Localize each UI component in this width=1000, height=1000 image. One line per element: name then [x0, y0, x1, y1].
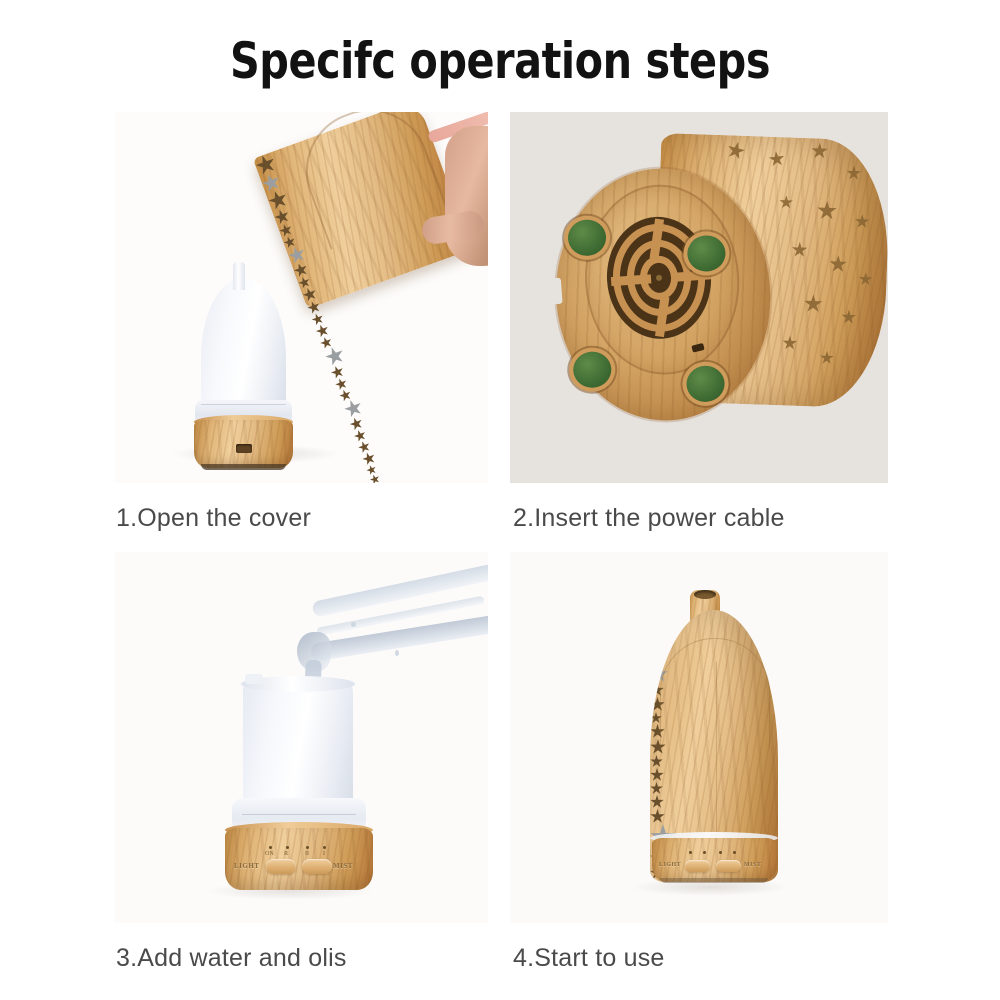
star-cutout-icon	[782, 335, 798, 351]
water-stream	[310, 613, 488, 661]
star-cutout-icon	[768, 150, 786, 168]
star-cutout-icon	[323, 344, 347, 368]
star-cutout-icon	[286, 244, 308, 266]
diffuser-bottom-view	[540, 138, 859, 443]
indicator-dot	[719, 851, 722, 854]
star-cutout-icon	[841, 309, 857, 325]
step-1-photo	[115, 112, 488, 483]
light-button-label: LIGHT	[234, 862, 259, 870]
star-cutout-icon	[779, 195, 793, 209]
star-cutout-icon	[253, 152, 279, 178]
star-cutout-icon	[650, 755, 663, 768]
star-cutout-icon	[357, 439, 372, 454]
light-button[interactable]	[266, 859, 296, 874]
mist-button-label: MIST	[333, 862, 353, 870]
fan-spoke	[671, 270, 712, 282]
base-foot-shadow	[201, 464, 286, 470]
star-cutout-icon	[817, 200, 838, 221]
indicator-dot	[323, 846, 326, 849]
step-2-photo	[510, 112, 888, 483]
star-cutout-icon	[334, 376, 349, 391]
star-cutout-icon	[301, 286, 319, 304]
star-cutout-icon	[650, 768, 664, 782]
star-cutout-icon	[650, 632, 666, 648]
hand	[415, 118, 488, 273]
star-cutout-icon	[292, 261, 310, 279]
star-cutout-icon	[348, 416, 365, 433]
star-cutout-icon	[820, 351, 834, 365]
step-4-photo: LIGHT MIST	[510, 552, 888, 923]
diffuser-tank	[243, 680, 353, 805]
water-droplet	[395, 650, 399, 656]
power-port	[236, 444, 252, 453]
hand-palm	[445, 126, 488, 266]
water-stream	[311, 563, 488, 618]
indicator-label: R	[284, 851, 288, 857]
mist-button[interactable]	[716, 860, 741, 872]
indicator-label: II	[305, 851, 309, 857]
star-cutout-icon	[858, 272, 872, 286]
star-cutout-icon	[329, 364, 346, 381]
tank-tab	[245, 674, 263, 684]
light-button-label: LIGHT	[659, 862, 681, 868]
page-title: Specifc operation steps	[40, 30, 960, 92]
star-cutout-icon	[369, 473, 382, 483]
star-cutout-icon	[846, 165, 862, 181]
star-cutout-icon	[650, 648, 667, 665]
indicator-label: I	[323, 851, 325, 857]
star-cutout-icon	[306, 299, 323, 316]
indicator-dot	[306, 846, 309, 849]
body-arc-line	[660, 638, 770, 749]
light-button[interactable]	[685, 860, 710, 872]
star-cutout-icon	[811, 142, 829, 160]
indicator-label: ON	[265, 851, 274, 857]
star-cutout-icon	[297, 275, 312, 290]
star-cutout-icon	[650, 782, 663, 795]
diffuser-wood-base: LIGHT MIST ON R II I	[225, 828, 373, 890]
star-cutout-icon	[266, 188, 290, 212]
mist-outlet	[694, 590, 716, 599]
indicator-dot	[269, 846, 272, 849]
body-seam	[716, 662, 717, 842]
mist-button[interactable]	[302, 859, 332, 874]
indicator-dot	[286, 846, 289, 849]
star-cutout-icon	[791, 242, 808, 259]
step-4-caption: 4.Start to use	[513, 943, 665, 973]
star-cutout-icon	[725, 140, 747, 162]
star-cutout-icon	[272, 207, 291, 226]
step-3-caption: 3.Add water and olis	[116, 943, 347, 973]
star-cutout-icon	[342, 397, 365, 420]
star-cutout-icon	[361, 450, 378, 467]
base-foot-shadow	[660, 878, 768, 883]
star-cutout-icon	[650, 795, 664, 809]
step-2-caption: 2.Insert the power cable	[513, 503, 785, 533]
indicator-dot	[689, 851, 692, 854]
star-cutout-icon	[365, 464, 378, 477]
star-cutout-icon	[650, 610, 672, 632]
star-cutout-icon	[803, 294, 823, 314]
infographic-page: Specifc operation steps	[0, 0, 1000, 1000]
star-cutout-icon	[352, 428, 367, 443]
diffuser-tank	[201, 278, 286, 413]
step-3-photo: LIGHT MIST ON R II I	[115, 552, 488, 923]
star-cutout-icon	[650, 809, 665, 824]
star-cutout-icon	[314, 323, 331, 340]
step-1-caption: 1.Open the cover	[116, 503, 311, 533]
water-droplet	[351, 622, 356, 627]
star-cutout-icon	[282, 235, 297, 250]
diffuser-wood-base: LIGHT MIST	[652, 838, 776, 882]
star-cutout-icon	[310, 312, 325, 327]
star-cutout-icon	[829, 255, 848, 274]
indicator-dot	[733, 851, 736, 854]
star-cutout-icon	[854, 214, 870, 230]
diffuser-tank-neck	[233, 262, 245, 290]
star-cutout-icon	[278, 222, 295, 239]
bottom-notch	[547, 278, 563, 305]
star-cutout-icon	[260, 171, 283, 194]
indicator-dot	[703, 851, 706, 854]
mist-button-label: MIST	[744, 862, 761, 868]
